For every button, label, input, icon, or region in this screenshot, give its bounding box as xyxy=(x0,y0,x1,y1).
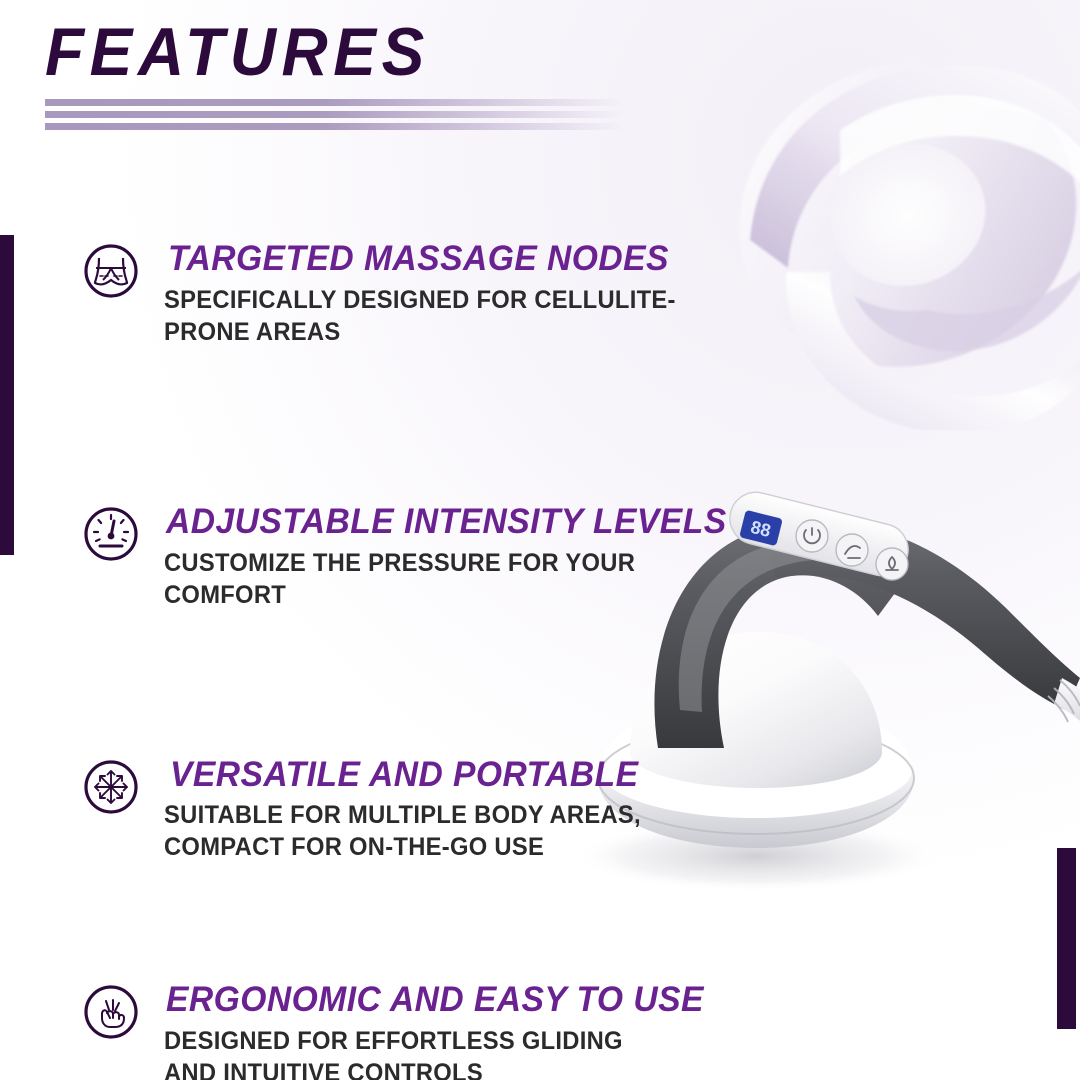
feature-subtitle: SUITABLE FOR MULTIPLE BODY AREAS, COMPAC… xyxy=(164,799,694,863)
feature-subtitle-line: SPECIFICALLY DESIGNED FOR CELLULITE-PRON… xyxy=(164,284,694,348)
body-contour-icon xyxy=(82,242,140,300)
feature-item-ergonomic-and-easy-to-use: ERGONOMIC AND EASY TO USE DESIGNED FOR E… xyxy=(82,981,722,1080)
infographic-canvas: 88 FEATURES xyxy=(0,0,1080,1080)
feature-subtitle: SPECIFICALLY DESIGNED FOR CELLULITE-PRON… xyxy=(164,284,694,348)
feature-subtitle-line: AND INTUITIVE CONTROLS xyxy=(164,1057,694,1080)
feature-title: ADJUSTABLE INTENSITY LEVELS xyxy=(166,503,700,541)
title-rule-1 xyxy=(45,99,625,106)
feature-title: TARGETED MASSAGE NODES xyxy=(168,240,700,278)
hand-gesture-icon xyxy=(82,983,140,1041)
feature-title: ERGONOMIC AND EASY TO USE xyxy=(166,981,700,1019)
feature-title: VERSATILE AND PORTABLE xyxy=(170,756,700,794)
feature-subtitle: CUSTOMIZE THE PRESSURE FOR YOUR COMFORT xyxy=(164,547,694,611)
features-list: TARGETED MASSAGE NODES SPECIFICALLY DESI… xyxy=(82,240,722,1080)
feature-subtitle-line: CUSTOMIZE THE PRESSURE FOR YOUR COMFORT xyxy=(164,547,694,611)
feature-subtitle-line: DESIGNED FOR EFFORTLESS GLIDING xyxy=(164,1025,694,1057)
feature-item-versatile-and-portable: VERSATILE AND PORTABLE SUITABLE FOR MULT… xyxy=(82,756,722,864)
feature-item-adjustable-intensity-levels: ADJUSTABLE INTENSITY LEVELS CUSTOMIZE TH… xyxy=(82,503,722,611)
feature-subtitle: DESIGNED FOR EFFORTLESS GLIDING AND INTU… xyxy=(164,1025,694,1080)
title-underline-rules xyxy=(45,99,625,130)
title-rule-2 xyxy=(45,111,625,118)
abstract-swirl-ring xyxy=(690,10,1080,430)
feature-subtitle-line: COMPACT FOR ON-THE-GO USE xyxy=(164,831,694,863)
title-block: FEATURES xyxy=(45,18,665,130)
feature-item-targeted-massage-nodes: TARGETED MASSAGE NODES SPECIFICALLY DESI… xyxy=(82,240,722,348)
title-rule-3 xyxy=(45,123,625,130)
gauge-icon xyxy=(82,505,140,563)
page-title: FEATURES xyxy=(45,18,628,87)
left-accent-bar xyxy=(0,235,14,555)
feature-subtitle-line: SUITABLE FOR MULTIPLE BODY AREAS, xyxy=(164,799,694,831)
multi-direction-arrows-icon xyxy=(82,758,140,816)
